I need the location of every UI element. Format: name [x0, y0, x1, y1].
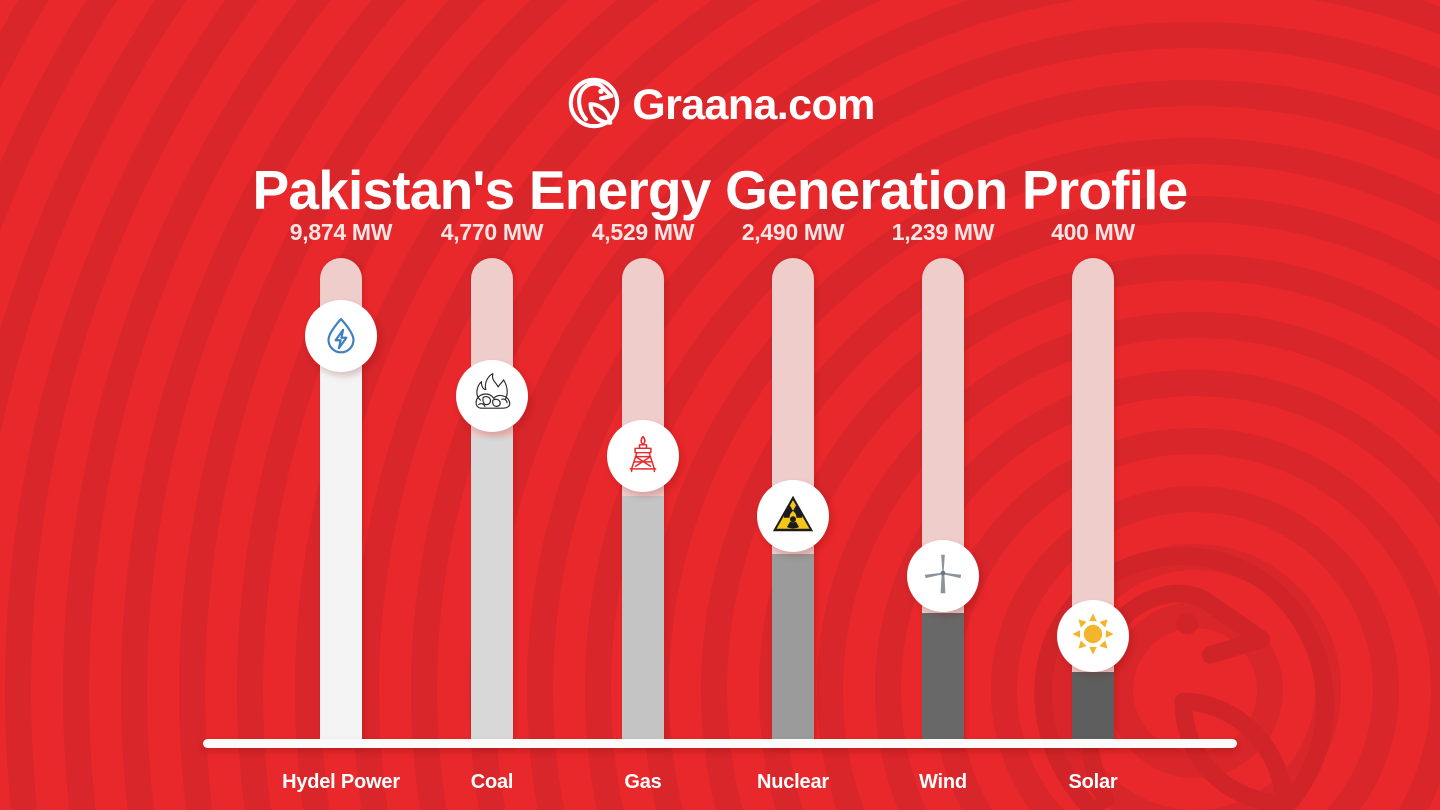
bar-column-nuclear: 2,490 MW	[718, 248, 868, 748]
energy-generation-bar-chart: 9,874 MW Hydel Power 4,770 MW	[0, 0, 1440, 810]
gas-derrick-flare-icon	[622, 433, 664, 480]
infographic-canvas: Graana.com Pakistan's Energy Generation …	[0, 0, 1440, 810]
chart-baseline	[203, 739, 1237, 748]
bar-icon-badge-hydel-power	[305, 300, 377, 372]
wind-turbine-icon	[921, 552, 965, 601]
bar-value-nuclear: 2,490 MW	[718, 219, 868, 246]
bar-icon-badge-solar	[1057, 600, 1129, 672]
bar-track-gas	[622, 258, 664, 748]
bar-column-gas: 4,529 MW	[568, 248, 718, 748]
bar-fill-gas	[622, 496, 664, 748]
radiation-warning-icon	[770, 491, 816, 542]
bar-icon-badge-wind	[907, 540, 979, 612]
coal-fire-icon	[469, 371, 515, 422]
bar-icon-badge-coal	[456, 360, 528, 432]
bar-column-wind: 1,239 MW Wind	[868, 248, 1018, 748]
water-drop-bolt-icon	[321, 314, 361, 359]
bar-label-gas: Gas	[568, 771, 718, 794]
bar-icon-badge-nuclear	[757, 480, 829, 552]
bar-column-solar: 400 MW	[1018, 248, 1168, 748]
bar-fill-solar	[1072, 672, 1114, 748]
bar-fill-coal	[471, 437, 513, 748]
bar-label-wind: Wind	[868, 771, 1018, 794]
bar-value-coal: 4,770 MW	[417, 219, 567, 246]
bar-track-solar	[1072, 258, 1114, 748]
bar-value-gas: 4,529 MW	[568, 219, 718, 246]
bar-value-wind: 1,239 MW	[868, 219, 1018, 246]
bar-label-solar: Solar	[1018, 771, 1168, 794]
bar-icon-badge-gas	[607, 420, 679, 492]
bar-label-hydel-power: Hydel Power	[266, 771, 416, 794]
bar-track-wind	[922, 258, 964, 748]
bar-column-coal: 4,770 MW	[417, 248, 567, 748]
bar-value-solar: 400 MW	[1018, 219, 1168, 246]
bar-label-coal: Coal	[417, 771, 567, 794]
bar-column-hydel-power: 9,874 MW Hydel Power	[266, 248, 416, 748]
bar-fill-wind	[922, 613, 964, 748]
bar-track-coal	[471, 258, 513, 748]
bar-fill-hydel-power	[320, 329, 362, 748]
sun-icon	[1070, 611, 1116, 662]
bar-label-nuclear: Nuclear	[718, 771, 868, 794]
bar-value-hydel-power: 9,874 MW	[266, 219, 416, 246]
bar-fill-nuclear	[772, 554, 814, 748]
